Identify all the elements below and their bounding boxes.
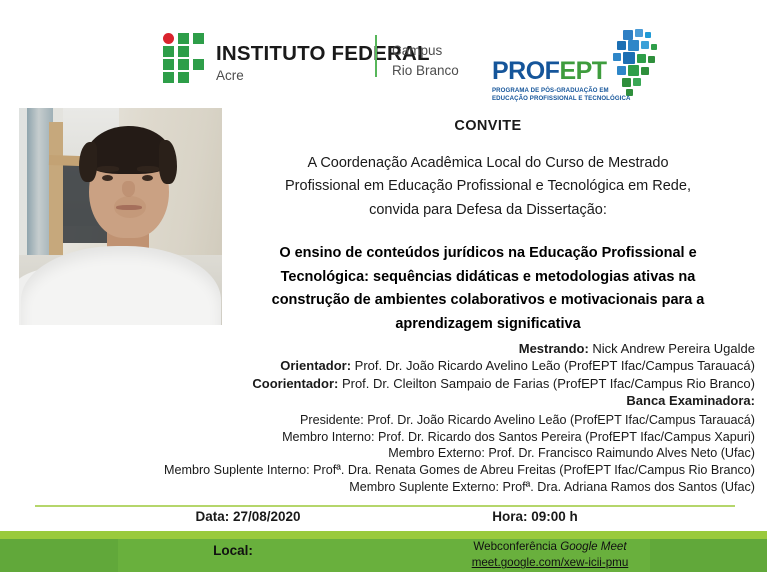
- meeting-link[interactable]: meet.google.com/xew-icii-pmu: [400, 555, 700, 571]
- meeting-prefix: Webconferência: [473, 540, 560, 553]
- profept-tagline-2: EDUCAÇÃO PROFISSIONAL E TECNOLÓGICA: [492, 95, 630, 103]
- footer-divider: [35, 505, 735, 507]
- date-time-row: Data: 27/08/2020 Hora: 09:00 h: [0, 509, 767, 531]
- campus-label: Campus: [392, 41, 459, 61]
- date-value: Data: 27/08/2020: [118, 509, 378, 524]
- list-item: Membro Externo: Prof. Dr. Francisco Raim…: [20, 445, 755, 462]
- profept-wordmark: PROFEPT PROGRAMA DE PÓS-GRADUAÇÃO EM EDU…: [492, 59, 630, 102]
- intro-line: Profissional em Educação Profissional e …: [228, 175, 748, 198]
- banca-members-list: Presidente: Prof. Dr. João Ricardo Aveli…: [20, 412, 755, 496]
- mestrando-row: Mestrando: Nick Andrew Pereira Ugalde: [40, 340, 755, 357]
- profept-word-blue: PROF: [492, 57, 559, 85]
- local-label: Local:: [118, 543, 348, 558]
- orientador-row: Orientador: Prof. Dr. João Ricardo Aveli…: [40, 357, 755, 374]
- if-logo-mark-icon: [163, 33, 207, 79]
- meeting-info: Webconferência Google Meet meet.google.c…: [400, 539, 700, 572]
- profept-tagline-1: PROGRAMA DE PÓS-GRADUAÇÃO EM: [492, 87, 630, 95]
- campus-block: Campus Rio Branco: [392, 41, 459, 80]
- page-title: CONVITE: [228, 118, 748, 134]
- footer-band-accent: [0, 531, 767, 539]
- time-value: Hora: 09:00 h: [420, 509, 650, 524]
- meeting-platform: Google Meet: [560, 540, 626, 553]
- orientador-value: Prof. Dr. João Ricardo Avelino Leão (Pro…: [351, 358, 755, 373]
- intro-line: A Coordenação Acadêmica Local do Curso d…: [228, 152, 748, 175]
- list-item: Membro Suplente Interno: Profª. Dra. Ren…: [20, 462, 755, 479]
- title-line: Tecnológica: sequências didáticas e meto…: [228, 266, 748, 289]
- list-item: Presidente: Prof. Dr. João Ricardo Aveli…: [20, 412, 755, 429]
- mestrando-value: Nick Andrew Pereira Ugalde: [589, 341, 755, 356]
- header-divider: [375, 35, 377, 77]
- list-item: Membro Suplente Externo: Profª. Dra. Adr…: [20, 479, 755, 496]
- coorientador-row: Coorientador: Prof. Dr. Cleilton Sampaio…: [40, 375, 755, 392]
- title-line: aprendizagem significativa: [228, 313, 748, 336]
- dissertation-title: O ensino de conteúdos jurídicos na Educa…: [228, 242, 748, 336]
- mestrando-label: Mestrando:: [519, 341, 589, 356]
- instituto-federal-logo: INSTITUTO FEDERAL Acre: [163, 33, 430, 82]
- intro-line: convida para Defesa da Dissertação:: [228, 199, 748, 222]
- coorientador-label: Coorientador:: [252, 376, 338, 391]
- banca-heading: Banca Examinadora:: [40, 392, 755, 409]
- profept-logo: PROFEPT PROGRAMA DE PÓS-GRADUAÇÃO EM EDU…: [492, 28, 660, 100]
- invitation-page: INSTITUTO FEDERAL Acre Campus Rio Branco: [0, 0, 767, 572]
- coorientador-value: Prof. Dr. Cleilton Sampaio de Farias (Pr…: [338, 376, 755, 391]
- candidate-photo: [19, 108, 222, 325]
- list-item: Membro Interno: Prof. Dr. Ricardo dos Sa…: [20, 429, 755, 446]
- header: INSTITUTO FEDERAL Acre Campus Rio Branco: [0, 0, 767, 104]
- profept-word-green: EPT: [559, 57, 606, 85]
- main-content: CONVITE A Coordenação Acadêmica Local do…: [228, 110, 748, 336]
- footer-band: Local: Webconferência Google Meet meet.g…: [0, 531, 767, 572]
- title-line: construção de ambientes colaborativos e …: [228, 289, 748, 312]
- orientation-block: Mestrando: Nick Andrew Pereira Ugalde Or…: [40, 340, 755, 409]
- meeting-platform-line: Webconferência Google Meet: [400, 539, 700, 555]
- intro-paragraph: A Coordenação Acadêmica Local do Curso d…: [228, 152, 748, 222]
- orientador-label: Orientador:: [280, 358, 351, 373]
- footer-band-left: [0, 539, 118, 572]
- title-line: O ensino de conteúdos jurídicos na Educa…: [228, 242, 748, 265]
- campus-name: Rio Branco: [392, 61, 459, 81]
